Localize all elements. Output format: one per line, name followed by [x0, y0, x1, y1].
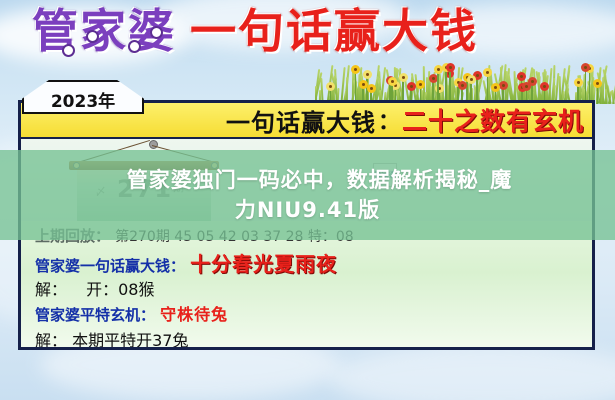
row-pingte-answer: 解： 本期平特开37兔 [35, 327, 188, 350]
year-tag: 2023年 [22, 80, 144, 114]
headline-band-separator: ： [378, 104, 400, 136]
decor-dot-icon [62, 44, 75, 57]
row-phrase-label: 管家婆一句话赢大钱： [35, 257, 185, 275]
grass-blade [601, 76, 604, 104]
year-tag-label: 2023年 [22, 80, 144, 114]
row-pingte-riddle-value: 守株待兔 [160, 305, 228, 324]
decor-dot-icon [150, 26, 163, 39]
masthead-text: 管家婆一句话赢大钱 [32, 8, 478, 54]
overlay-title-line2: 力NIU9.41版 [235, 195, 380, 225]
row-pingte-answer-value: 本期平特开37兔 [72, 331, 188, 350]
flower-stem [445, 69, 447, 104]
flower-icon [399, 73, 408, 82]
row-pingte-answer-label: 解： [35, 331, 67, 350]
cloud-decoration [330, 345, 615, 400]
row-phrase-answer: 解： 开：08猴 [35, 276, 154, 300]
flower-icon [416, 80, 425, 89]
overlay-title-line1: 管家婆独门一码必中，数据解析揭秘_魔 [103, 165, 513, 195]
flower-stem [449, 69, 451, 104]
flower-icon [483, 68, 492, 77]
row-pingte-riddle: 管家婆平特玄机： 守株待兔 [35, 301, 228, 325]
flower-icon [467, 75, 476, 84]
flower-icon [574, 78, 583, 87]
flower-icon [359, 80, 368, 89]
overlay-title-band: 管家婆独门一码必中，数据解析揭秘_魔 力NIU9.41版 [0, 150, 615, 240]
flower-stem [585, 69, 587, 104]
info-rows: 上期回放： 第270期 45 05 42 03 37 28 特：08 管家婆一句… [21, 221, 592, 350]
flower-icon [363, 70, 372, 79]
flower-stem [597, 85, 599, 104]
row-phrase-answer-label: 解： [35, 280, 67, 299]
flower-icon [458, 81, 467, 90]
flower-icon [528, 77, 537, 86]
flower-icon [326, 82, 335, 91]
flower-stem [589, 70, 591, 104]
flower-icon [407, 82, 416, 91]
flower-icon [434, 65, 443, 74]
decor-dot-icon [128, 40, 141, 53]
poster-canvas: 管家婆一句话赢大钱 2023年 一句话赢大钱 ： 二十之数有玄机 271 〆 [0, 0, 615, 400]
row-phrase: 管家婆一句话赢大钱： 十分春光夏雨夜 [35, 248, 337, 277]
flower-icon [367, 84, 376, 93]
row-phrase-value: 十分春光夏雨夜 [190, 252, 337, 276]
meadow-decoration [315, 58, 615, 104]
headline-band-value: 二十之数有玄机 [402, 102, 584, 138]
masthead-slogan: 一句话赢大钱 [190, 4, 478, 58]
flower-icon [446, 63, 455, 72]
row-phrase-answer-value: 开：08猴 [72, 280, 154, 299]
decor-dot-icon [86, 30, 99, 43]
headline-band-label: 一句话赢大钱 [226, 103, 376, 138]
row-pingte-riddle-label: 管家婆平特玄机： [35, 306, 155, 324]
